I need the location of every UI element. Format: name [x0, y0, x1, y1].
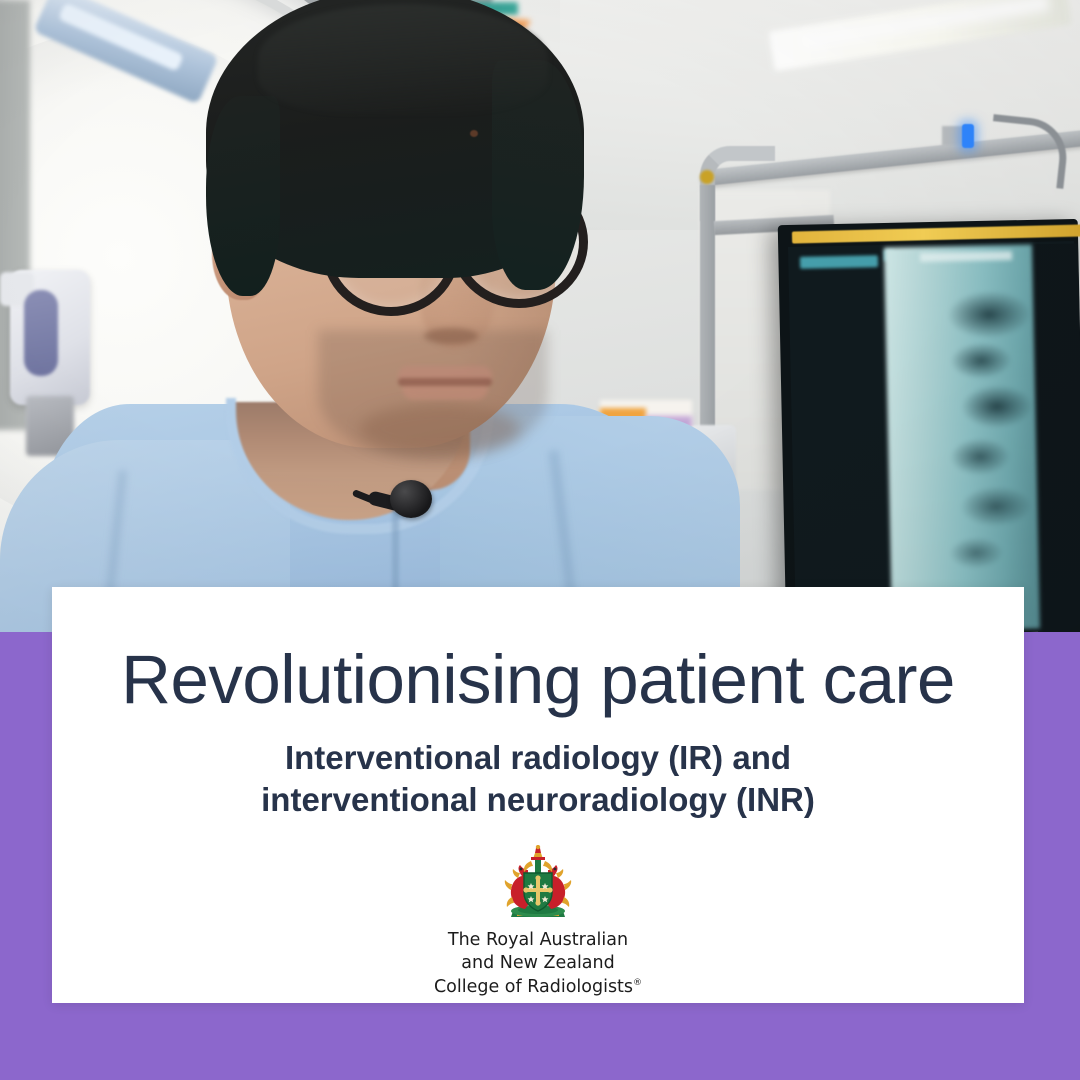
page-subtitle: Interventional radiology (IR) and interv… [52, 737, 1024, 820]
ranzcr-logo: The Royal Australian and New Zealand Col… [52, 845, 1024, 999]
ranzcr-logo-text: The Royal Australian and New Zealand Col… [52, 929, 1024, 999]
text-card: Revolutionising patient care Interventio… [52, 587, 1024, 1003]
subtitle-line-1: Interventional radiology (IR) and [52, 737, 1024, 779]
logo-line-3-text: College of Radiologists [434, 977, 633, 997]
photo-vignette [0, 0, 1080, 632]
subtitle-line-2: interventional neuroradiology (INR) [52, 779, 1024, 821]
registered-mark: ® [633, 978, 642, 988]
hero-photo [0, 0, 1080, 632]
social-media-card: Revolutionising patient care Interventio… [0, 0, 1080, 1080]
logo-line-2: and New Zealand [52, 952, 1024, 975]
page-title: Revolutionising patient care [52, 645, 1024, 714]
logo-line-1: The Royal Australian [52, 929, 1024, 952]
ranzcr-coat-of-arms-icon [495, 845, 581, 923]
logo-line-3: College of Radiologists® [52, 976, 1024, 999]
